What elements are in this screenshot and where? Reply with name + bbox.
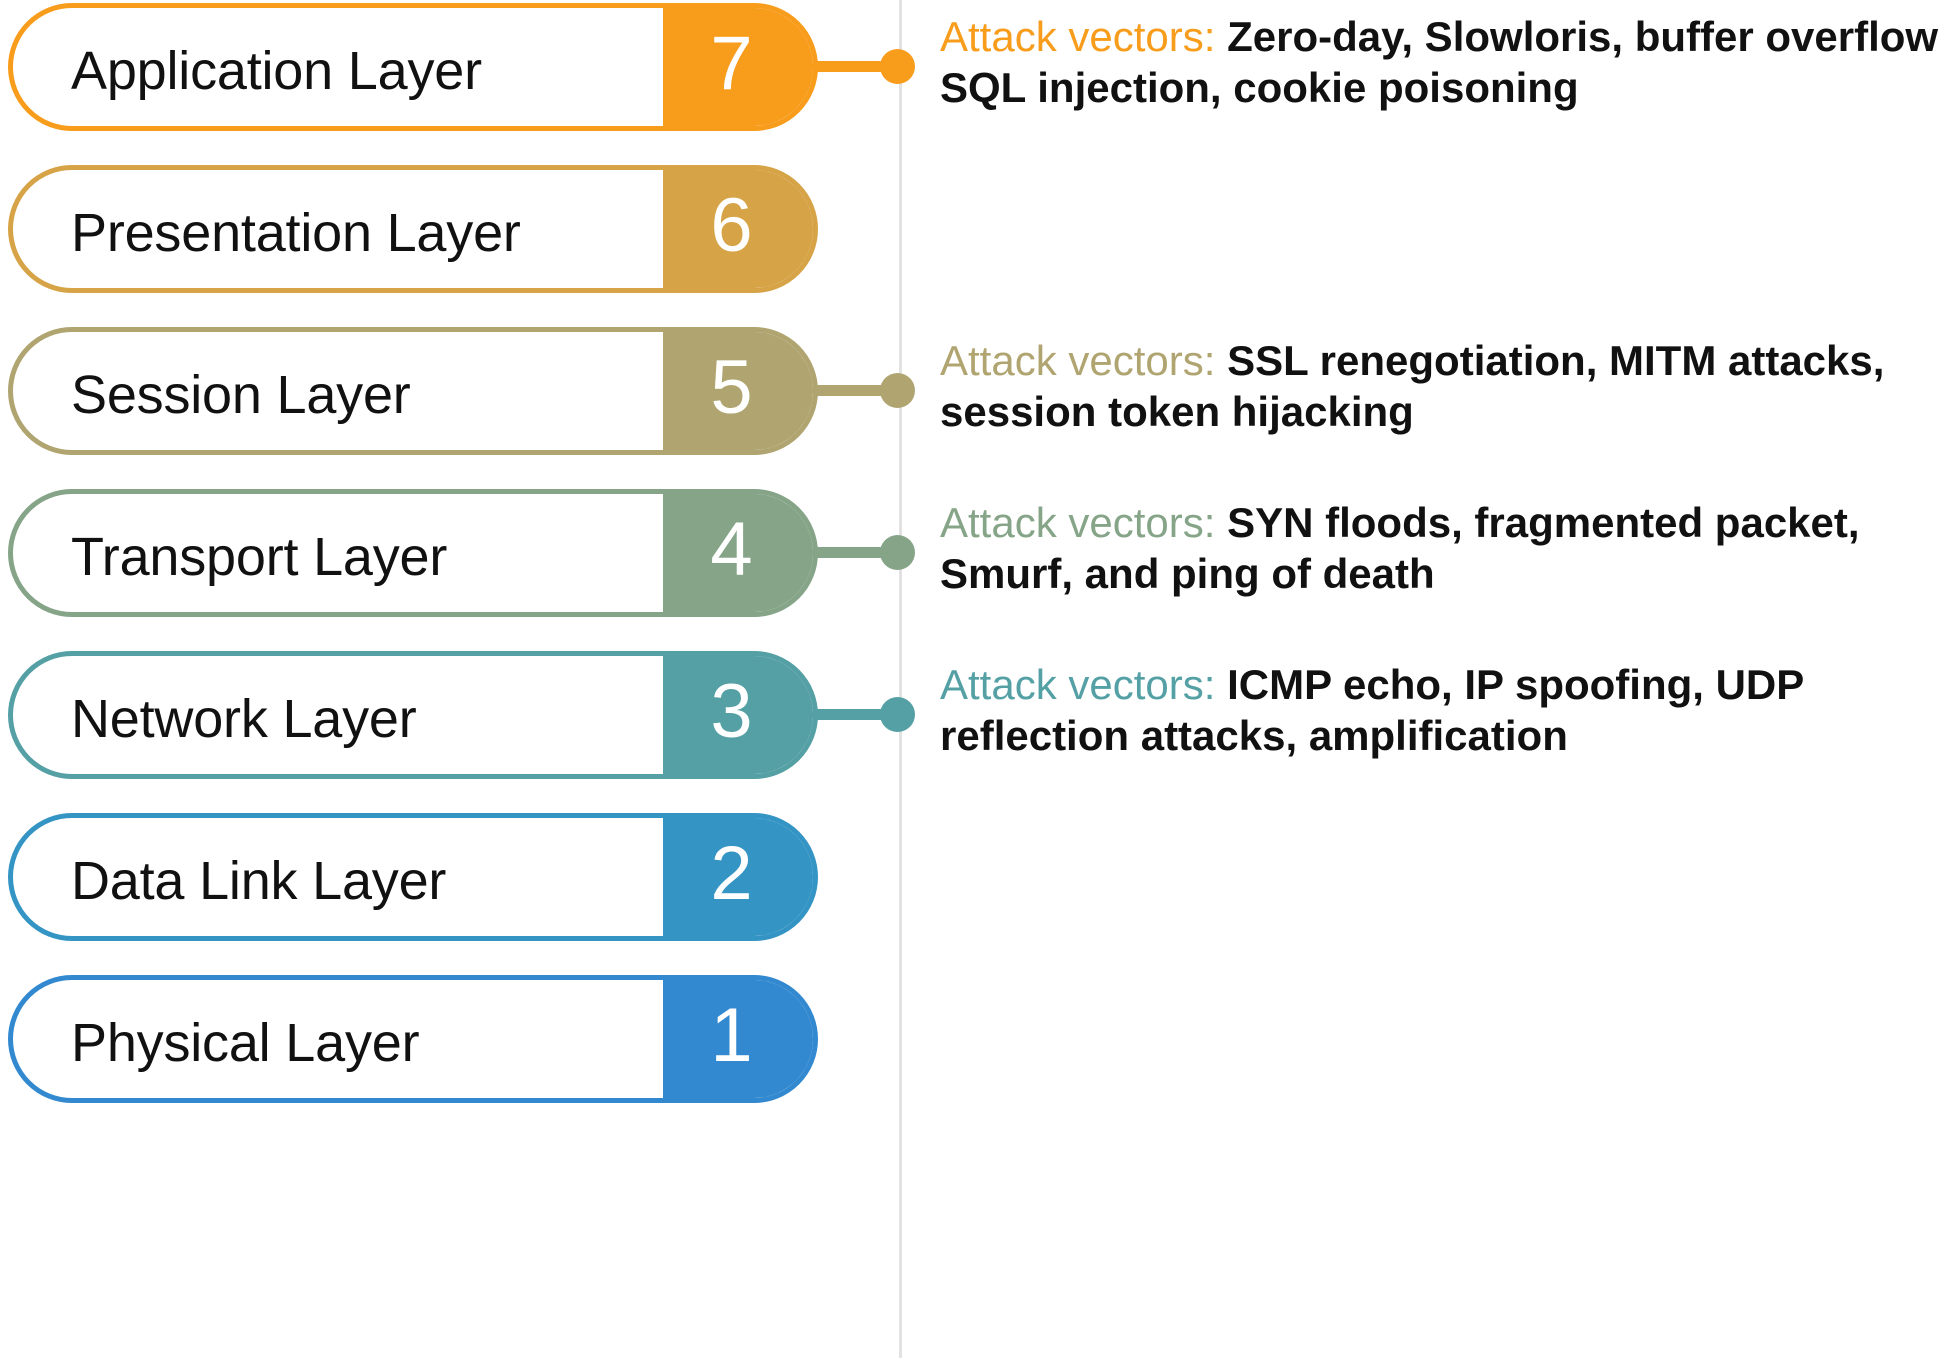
layer-number-block: 4 — [663, 489, 818, 617]
layer-number-block: 3 — [663, 651, 818, 779]
layer-name-label: Transport Layer — [71, 494, 447, 617]
layer-number: 7 — [663, 3, 800, 131]
layer-number: 5 — [663, 327, 800, 455]
layer-number: 4 — [663, 489, 800, 617]
layer-name-label: Application Layer — [71, 8, 482, 131]
layer-name-label: Session Layer — [71, 332, 411, 455]
layer-name-label: Data Link Layer — [71, 818, 446, 941]
layer-pill-5[interactable]: Session Layer5 — [8, 327, 818, 455]
layer-pill-4[interactable]: Transport Layer4 — [8, 489, 818, 617]
layer-row: Physical Layer1 — [0, 975, 1939, 1103]
layer-number-block: 7 — [663, 3, 818, 131]
layer-number: 2 — [663, 813, 800, 941]
layer-number-block: 5 — [663, 327, 818, 455]
layer-row: Presentation Layer6 — [0, 165, 1939, 293]
connector-dot — [880, 697, 915, 732]
attack-vectors-annotation: Attack vectors: Zero-day, Slowloris, buf… — [940, 11, 1939, 113]
layer-number-block: 2 — [663, 813, 818, 941]
attack-vectors-label: Attack vectors: — [940, 499, 1215, 546]
layer-pill-2[interactable]: Data Link Layer2 — [8, 813, 818, 941]
attack-vectors-label: Attack vectors: — [940, 337, 1215, 384]
layer-number-block: 1 — [663, 975, 818, 1103]
layer-row: Application Layer7Attack vectors: Zero-d… — [0, 3, 1939, 131]
layer-row: Transport Layer4Attack vectors: SYN floo… — [0, 489, 1939, 617]
connector-dot — [880, 535, 915, 570]
layer-name-label: Presentation Layer — [71, 170, 521, 293]
layer-pill-3[interactable]: Network Layer3 — [8, 651, 818, 779]
layer-pill-6[interactable]: Presentation Layer6 — [8, 165, 818, 293]
connector-dot — [880, 373, 915, 408]
layer-name-label: Physical Layer — [71, 980, 419, 1103]
layer-row: Data Link Layer2 — [0, 813, 1939, 941]
attack-vectors-annotation: Attack vectors: SSL renegotiation, MITM … — [940, 335, 1939, 437]
osi-layers-diagram: Application Layer7Attack vectors: Zero-d… — [0, 0, 1939, 1358]
attack-vectors-label: Attack vectors: — [940, 13, 1215, 60]
layer-number: 1 — [663, 975, 800, 1103]
layer-pill-7[interactable]: Application Layer7 — [8, 3, 818, 131]
layer-name-label: Network Layer — [71, 656, 417, 779]
attack-vectors-label: Attack vectors: — [940, 661, 1215, 708]
layer-number: 3 — [663, 651, 800, 779]
attack-vectors-annotation: Attack vectors: SYN floods, fragmented p… — [940, 497, 1939, 599]
layer-pill-1[interactable]: Physical Layer1 — [8, 975, 818, 1103]
attack-vectors-annotation: Attack vectors: ICMP echo, IP spoofing, … — [940, 659, 1939, 761]
layer-number: 6 — [663, 165, 800, 293]
layer-row: Session Layer5Attack vectors: SSL renego… — [0, 327, 1939, 455]
connector-dot — [880, 49, 915, 84]
layer-number-block: 6 — [663, 165, 818, 293]
layer-row: Network Layer3Attack vectors: ICMP echo,… — [0, 651, 1939, 779]
